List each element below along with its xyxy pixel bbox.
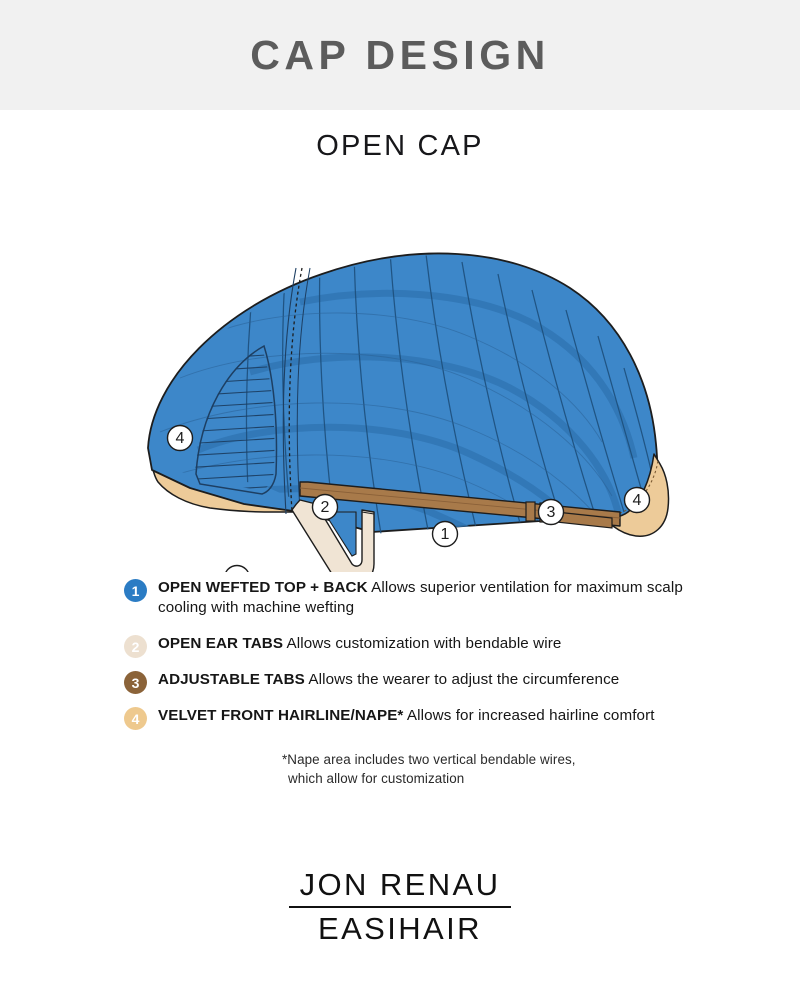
callout-2-label: 2 bbox=[321, 499, 330, 516]
legend-item-1: 1 OPEN WEFTED TOP + BACK Allows superior… bbox=[124, 578, 800, 618]
header-band: CAP DESIGN bbox=[0, 0, 800, 110]
subtitle-container: OPEN CAP bbox=[0, 110, 800, 182]
callout-4-left-label: 4 bbox=[176, 430, 185, 447]
legend-text-4: VELVET FRONT HAIRLINE/NAPE* Allows for i… bbox=[158, 706, 655, 726]
legend-list: 1 OPEN WEFTED TOP + BACK Allows superior… bbox=[0, 572, 800, 788]
legend-item-4: 4 VELVET FRONT HAIRLINE/NAPE* Allows for… bbox=[124, 706, 800, 730]
legend-text-2: OPEN EAR TABS Allows customization with … bbox=[158, 634, 561, 654]
legend-item-2: 2 OPEN EAR TABS Allows customization wit… bbox=[124, 634, 800, 658]
callout-4-left: 4 bbox=[168, 426, 193, 451]
legend-bullet-2: 2 bbox=[124, 635, 147, 658]
brand-logo: JON RENAU EASIHAIR bbox=[0, 868, 800, 946]
brand-name-primary: JON RENAU bbox=[300, 868, 501, 903]
legend-title-2: OPEN EAR TABS bbox=[158, 635, 283, 652]
page-title: CAP DESIGN bbox=[250, 35, 549, 76]
callout-1-left: 1 bbox=[225, 566, 250, 573]
callout-3-label: 3 bbox=[547, 504, 556, 521]
callout-1-top-label: 1 bbox=[441, 526, 450, 543]
legend-desc-4: Allows for increased hairline comfort bbox=[407, 707, 655, 724]
legend-bullet-1: 1 bbox=[124, 579, 147, 602]
section-subtitle: OPEN CAP bbox=[316, 130, 483, 163]
legend-bullet-4: 4 bbox=[124, 707, 147, 730]
brand-name-secondary: EASIHAIR bbox=[318, 912, 482, 947]
legend-title-3: ADJUSTABLE TABS bbox=[158, 671, 305, 688]
cap-diagram: 1 1 2 3 4 4 bbox=[0, 182, 800, 572]
callout-4-right: 4 bbox=[625, 488, 650, 513]
callout-2: 2 bbox=[313, 495, 338, 520]
legend-desc-2: Allows customization with bendable wire bbox=[287, 635, 562, 652]
footnote-line-1: *Nape area includes two vertical bendabl… bbox=[282, 752, 576, 767]
callout-1-left-label: 1 bbox=[233, 570, 242, 572]
legend-desc-3: Allows the wearer to adjust the circumfe… bbox=[308, 671, 619, 688]
callout-4-right-label: 4 bbox=[633, 492, 642, 509]
callout-1-top: 1 bbox=[433, 522, 458, 547]
legend-text-3: ADJUSTABLE TABS Allows the wearer to adj… bbox=[158, 670, 619, 690]
legend-title-4: VELVET FRONT HAIRLINE/NAPE* bbox=[158, 707, 403, 724]
callout-3: 3 bbox=[539, 500, 564, 525]
legend-footnote: *Nape area includes two vertical bendabl… bbox=[124, 746, 800, 788]
legend-bullet-3: 3 bbox=[124, 671, 147, 694]
legend-item-3: 3 ADJUSTABLE TABS Allows the wearer to a… bbox=[124, 670, 800, 694]
brand-divider bbox=[289, 906, 511, 908]
legend-title-1: OPEN WEFTED TOP + BACK bbox=[158, 579, 368, 596]
footnote-line-2: which allow for customization bbox=[282, 769, 800, 788]
legend-text-1: OPEN WEFTED TOP + BACK Allows superior v… bbox=[158, 578, 704, 618]
